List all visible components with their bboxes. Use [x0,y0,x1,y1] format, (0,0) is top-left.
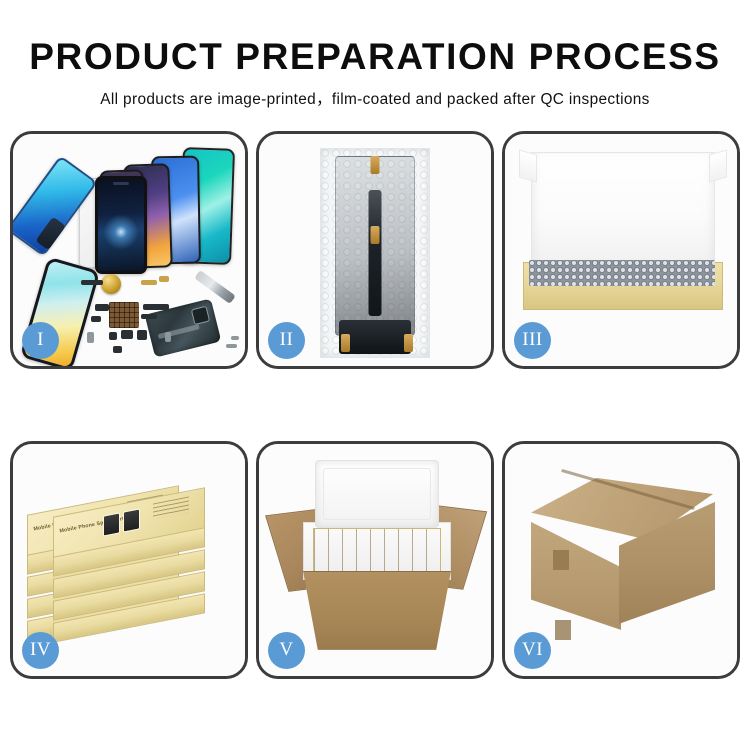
spare-part [231,336,239,340]
spare-part [109,332,117,340]
camera-module [191,306,210,325]
box-window [103,512,120,536]
page-subtitle: All products are image-printed，film-coat… [0,87,750,109]
adhesive-tab [371,226,380,244]
process-step-grid: I II III Mobile Phone Spare Parts [10,131,740,679]
step-badge-6: VI [514,632,551,669]
adhesive-tab [371,156,380,174]
step-badge-3: III [514,322,551,359]
process-step-5[interactable]: V [256,441,494,679]
display-assembly [95,176,147,274]
packing-tape [553,550,569,570]
spare-part [141,314,157,319]
spare-part [137,330,147,340]
process-step-6[interactable]: VI [502,441,740,679]
step-badge-2: II [268,322,305,359]
spare-part [113,346,122,353]
chip-grid-part [109,302,139,328]
process-step-2[interactable]: II [256,131,494,369]
white-lid [531,152,715,272]
spare-part [81,280,103,285]
protector-dark-edge [35,216,66,250]
box-window [123,508,140,532]
adhesive-tab [341,334,350,352]
inner-yellow-boxes [313,528,441,572]
spare-part [91,316,101,322]
notch [113,182,129,185]
foam-lid [315,460,439,528]
adhesive-tab [404,334,413,352]
spare-part [143,304,169,310]
spare-part [165,332,171,342]
bubble-wrap-fill [529,260,715,286]
step-badge-1: I [22,322,59,359]
spare-part [159,276,169,282]
flex-cable [369,190,382,316]
page-title: PRODUCT PREPARATION PROCESS [0,38,750,77]
carton-body [303,571,451,650]
spare-part [226,344,237,348]
spare-part [121,330,133,339]
spare-part [87,332,94,343]
process-step-4[interactable]: Mobile Phone Spare Parts Mobile Phone Sp… [10,441,248,679]
spare-part [95,304,109,311]
page-header: PRODUCT PREPARATION PROCESS All products… [0,0,750,109]
screwdriver-icon [194,270,235,304]
carton-left-face [531,522,621,630]
step-badge-4: IV [22,632,59,669]
process-step-1[interactable]: I [10,131,248,369]
packing-tape [555,620,571,640]
copper-coil-part [101,274,121,294]
wallpaper-burst [101,212,141,252]
spare-part [141,280,157,285]
process-step-3[interactable]: III [502,131,740,369]
step-badge-5: V [268,632,305,669]
